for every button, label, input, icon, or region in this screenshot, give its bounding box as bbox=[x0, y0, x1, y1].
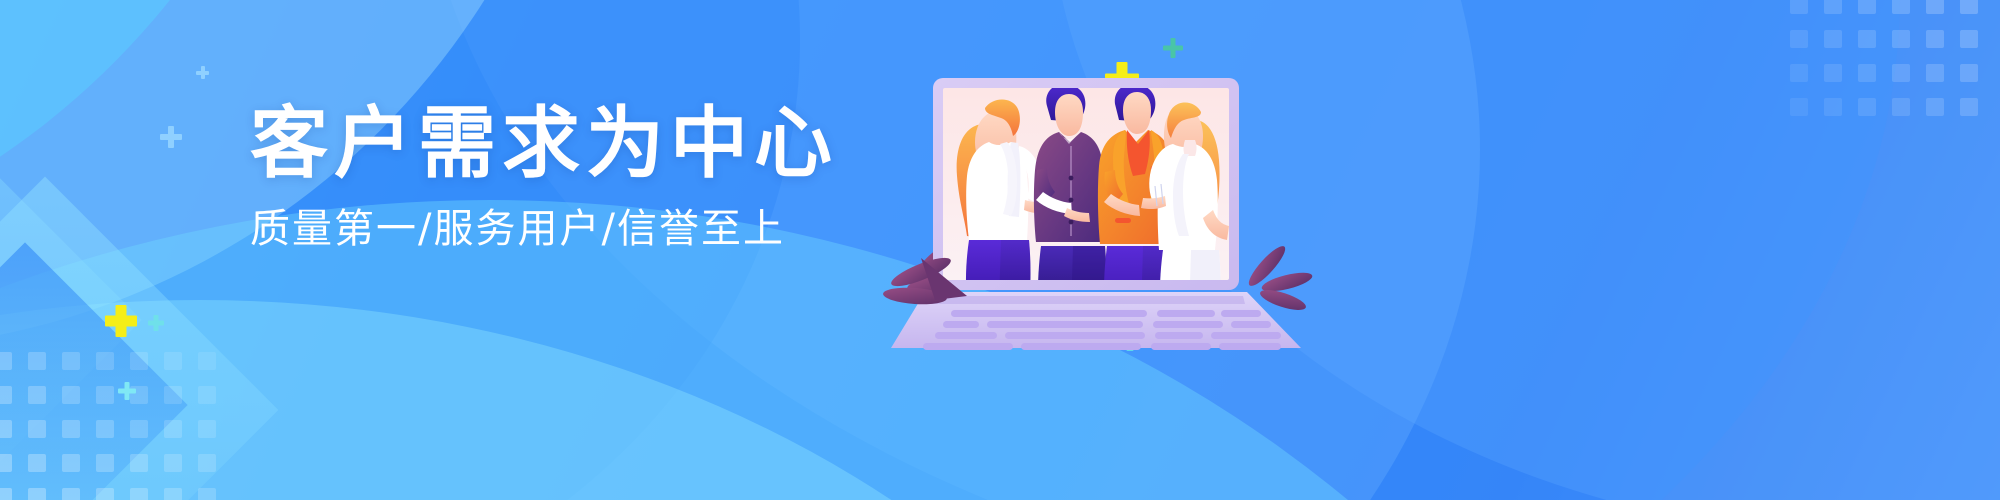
page-title: 客户需求为中心 bbox=[250, 105, 870, 183]
plus-cyan-faint-icon bbox=[118, 382, 136, 400]
page-subtitle: 质量第一/服务用户/信誉至上 bbox=[250, 209, 870, 249]
plus-white-small-icon bbox=[196, 66, 209, 79]
laptop-hinge bbox=[927, 296, 1245, 304]
banner-text-block: 客户需求为中心 质量第一/服务用户/信誉至上 bbox=[250, 105, 870, 249]
plus-yellow-bottom-icon bbox=[105, 305, 137, 337]
laptop-illustration bbox=[915, 60, 1315, 360]
plus-cyan-small-icon bbox=[1163, 38, 1183, 58]
promotional-banner: 客户需求为中心 质量第一/服务用户/信誉至上 bbox=[0, 0, 2000, 500]
plus-cyan-bottom-icon bbox=[148, 315, 164, 331]
plus-white-upper-icon bbox=[160, 126, 182, 148]
